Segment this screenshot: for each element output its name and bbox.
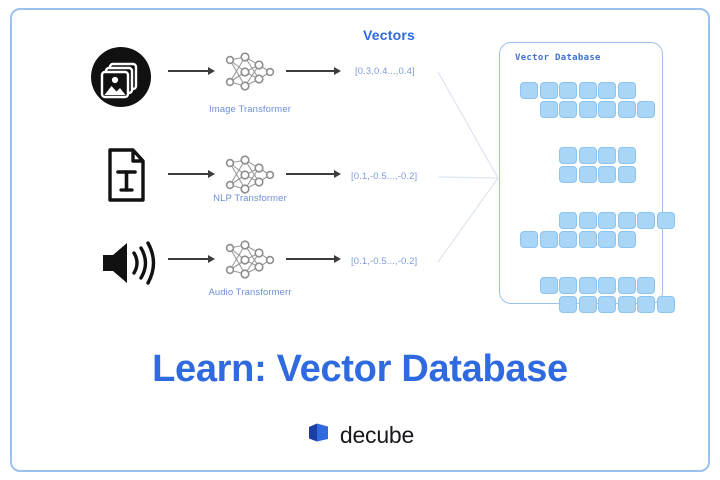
vector-block <box>579 212 597 229</box>
vector-block <box>559 231 577 248</box>
vector-block <box>598 277 616 294</box>
vector-block <box>520 231 538 248</box>
model-label-image: Image Transformer <box>180 104 320 115</box>
vector-block <box>598 82 616 99</box>
vector-block <box>618 166 636 183</box>
vector-block <box>618 212 636 229</box>
audio-speaker-icon <box>94 230 160 296</box>
page-title: Learn: Vector Database <box>0 348 720 391</box>
vector-block <box>598 101 616 118</box>
vector-block <box>618 277 636 294</box>
vector-block <box>637 277 655 294</box>
vector-database-title: Vector Database <box>515 53 601 63</box>
vectors-heading: Vectors <box>363 27 415 43</box>
vector-block <box>579 82 597 99</box>
vector-block <box>598 212 616 229</box>
vector-block <box>559 82 577 99</box>
arrow-audio-to-model <box>168 254 216 264</box>
vector-block <box>559 212 577 229</box>
arrow-model-to-vector-audio <box>286 254 342 264</box>
vector-block <box>540 231 558 248</box>
vector-block <box>579 231 597 248</box>
vector-block <box>618 101 636 118</box>
vector-block <box>637 296 655 313</box>
vector-block <box>579 101 597 118</box>
vector-block <box>618 231 636 248</box>
arrow-text-to-model <box>168 169 216 179</box>
vector-block <box>579 166 597 183</box>
vector-block <box>618 296 636 313</box>
vector-block <box>559 166 577 183</box>
diagram-canvas: Vectors <box>0 0 720 480</box>
vector-block <box>618 147 636 164</box>
image-stack-icon <box>88 44 154 110</box>
vector-value-image: [0.3,0.4...,0.4] <box>355 66 415 77</box>
vector-value-nlp: [0.1,-0.5...,-0.2] <box>351 171 417 182</box>
vector-block <box>657 212 675 229</box>
model-label-nlp: NLP Transformer <box>180 193 320 204</box>
vector-block <box>598 231 616 248</box>
decube-logo: decube <box>0 420 720 451</box>
vector-block <box>540 277 558 294</box>
vector-block <box>559 277 577 294</box>
vector-block <box>618 82 636 99</box>
vector-block <box>540 101 558 118</box>
vector-block <box>579 296 597 313</box>
vector-block <box>540 82 558 99</box>
decube-logo-text: decube <box>340 422 414 449</box>
vector-block <box>598 147 616 164</box>
vector-block <box>559 296 577 313</box>
vector-block <box>637 212 655 229</box>
arrow-model-to-vector-image <box>286 66 342 76</box>
vector-block <box>520 82 538 99</box>
vector-value-audio: [0.1,-0.5...,-0.2] <box>351 256 417 267</box>
neural-network-icon-audio <box>216 235 278 285</box>
vector-block <box>559 101 577 118</box>
decube-logo-mark <box>306 420 332 451</box>
text-document-icon <box>92 142 158 208</box>
vector-block <box>598 296 616 313</box>
model-label-audio: Audio Transformerr <box>180 287 320 298</box>
vector-block <box>579 277 597 294</box>
vector-block <box>559 147 577 164</box>
vector-block <box>598 166 616 183</box>
arrow-model-to-vector-nlp <box>286 169 342 179</box>
neural-network-icon-image <box>216 47 278 97</box>
vector-block <box>637 101 655 118</box>
vector-block <box>579 147 597 164</box>
arrow-image-to-model <box>168 66 216 76</box>
vector-block <box>657 296 675 313</box>
